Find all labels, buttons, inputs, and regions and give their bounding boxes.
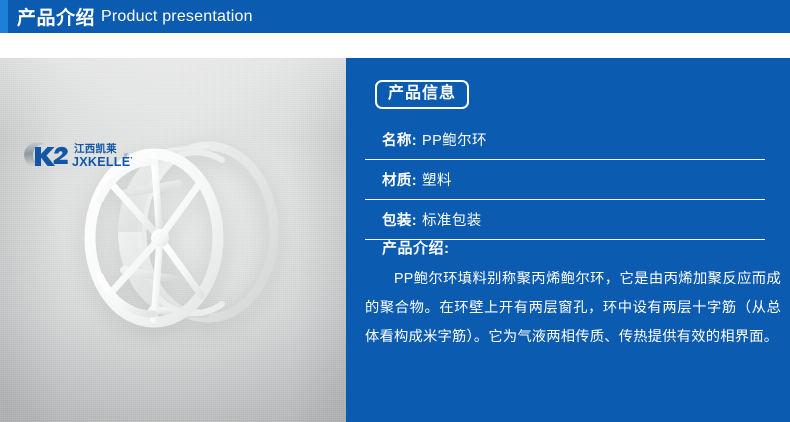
description-heading: 产品介绍: <box>382 237 450 258</box>
row-value-material: 塑料 <box>422 169 452 190</box>
header-accent-stripe <box>0 0 8 33</box>
row-value-packaging: 标准包装 <box>422 209 482 230</box>
svg-text:江西凯莱: 江西凯莱 <box>74 142 117 155</box>
page-header: 产品介绍 Product presentation <box>0 0 790 33</box>
content-area: 江西凯莱 JXKELLEY ® 产品信息 名称: PP鲍尔环 材质: 塑料 <box>0 58 790 422</box>
page-title: 产品介绍 <box>17 3 95 30</box>
description-body: PP鲍尔环填料别称聚丙烯鲍尔环，它是由丙烯加聚反应而成的聚合物。在环壁上开有两层… <box>365 265 781 352</box>
row-label-packaging: 包装: <box>382 209 417 230</box>
page-subtitle: Product presentation <box>101 8 253 26</box>
svg-text:JXKELLEY: JXKELLEY <box>72 155 132 169</box>
header-title-group: 产品介绍 Product presentation <box>17 0 253 33</box>
product-photo-panel: 江西凯莱 JXKELLEY ® <box>0 58 346 422</box>
jxkelley-logo: 江西凯莱 JXKELLEY ® <box>14 138 132 172</box>
svg-text:®: ® <box>124 153 129 160</box>
table-row: 材质: 塑料 <box>365 160 765 200</box>
product-info-panel: 产品信息 名称: PP鲍尔环 材质: 塑料 包装: 标准包装 产品介绍: PP鲍… <box>346 58 790 422</box>
row-label-name: 名称: <box>382 129 417 150</box>
product-info-badge: 产品信息 <box>375 80 469 109</box>
table-row: 名称: PP鲍尔环 <box>365 120 765 160</box>
table-row: 包装: 标准包装 <box>365 200 765 240</box>
row-label-material: 材质: <box>382 169 417 190</box>
row-value-name: PP鲍尔环 <box>422 129 487 150</box>
product-info-rows: 名称: PP鲍尔环 材质: 塑料 包装: 标准包装 <box>365 120 765 240</box>
product-presentation-page: 产品介绍 Product presentation <box>0 0 790 422</box>
